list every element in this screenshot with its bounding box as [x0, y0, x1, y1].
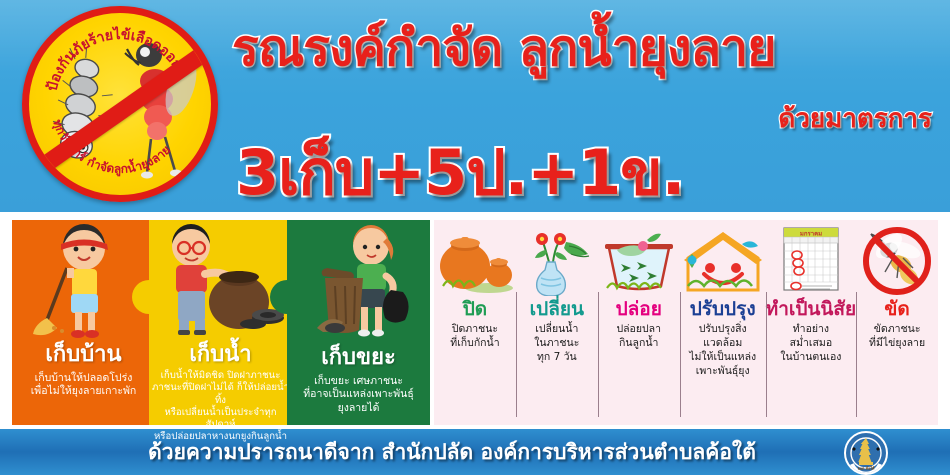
page-title: รณรงค์กำจัด ลูกน้ำยุงลาย: [232, 22, 932, 75]
measure-desc: ปล่อยปลากินลูกน้ำ: [598, 323, 680, 351]
panel-desc: เก็บน้ำให้มิดชิด ปิดฝาภาชนะ ภาชนะที่ปิดฝ…: [152, 370, 289, 444]
panel-keep-house[interactable]: เก็บบ้าน เก็บบ้านให้ปลอดโปร่ง เพื่อไม่ให…: [12, 220, 155, 425]
measure-habit[interactable]: มกราคม: [766, 220, 856, 425]
boy-covering-jar-icon: [149, 224, 292, 344]
panel-title: เก็บบ้าน: [12, 344, 155, 366]
measure-label: เปลี่ยน: [516, 300, 598, 320]
measure-close[interactable]: ปิด ปิดภาชนะที่เก็บกักน้ำ: [434, 220, 516, 425]
panel-desc: เก็บบ้านให้ปลอดโปร่ง เพื่อไม่ให้ยุงลายเก…: [15, 372, 152, 399]
measure-desc: ปิดภาชนะที่เก็บกักน้ำ: [434, 323, 516, 351]
svg-text:อบต.ค้อใต้: อบต.ค้อใต้: [858, 466, 875, 471]
water-jar-icon: [434, 224, 516, 296]
panel-keep-trash[interactable]: เก็บขยะ เก็บขยะ เศษภาชนะ ที่อาจเป็นแหล่ง…: [287, 220, 430, 425]
measure-scrub[interactable]: ขัด ขัดภาชนะที่มีไข่ยุงลาย: [856, 220, 938, 425]
poster-body: เก็บบ้าน เก็บบ้านให้ปลอดโปร่ง เพื่อไม่ให…: [0, 220, 950, 425]
poster-header: ป้องกันภัยร้ายไข้เลือดออก ทุกวันศุกร์ กำ…: [0, 0, 950, 212]
girl-sweeping-icon: [12, 224, 155, 344]
measure-desc: ปรับปรุงสิ่งแวดล้อมไม่ให้เป็นแหล่งเพาะพั…: [680, 323, 766, 378]
panel-desc: เก็บขยะ เศษภาชนะ ที่อาจเป็นแหล่งเพาะพันธ…: [290, 375, 427, 415]
panel-title: เก็บขยะ: [287, 347, 430, 369]
measure-desc: เปลี่ยนน้ำในภาชนะทุก 7 วัน: [516, 323, 598, 365]
divider-top: [0, 212, 950, 220]
campaign-formula: 3เก็บ+5ป.+1ข.: [236, 124, 684, 222]
measure-improve[interactable]: ปรับปรุง ปรับปรุงสิ่งแวดล้อมไม่ให้เป็นแห…: [680, 220, 766, 425]
measure-label: ปล่อย: [598, 300, 680, 320]
measure-label: ปิด: [434, 300, 516, 320]
measure-change[interactable]: เปลี่ยน เปลี่ยนน้ำในภาชนะทุก 7 วัน: [516, 220, 598, 425]
measure-desc: ขัดภาชนะที่มีไข่ยุงลาย: [856, 323, 938, 351]
measure-desc: ทำอย่างสม่ำเสมอในบ้านตนเอง: [766, 323, 856, 365]
fish-basin-icon: [598, 224, 680, 296]
panel-keep-water[interactable]: เก็บน้ำ เก็บน้ำให้มิดชิด ปิดฝาภาชนะ ภาชน…: [149, 220, 292, 425]
panel-title: เก็บน้ำ: [149, 344, 292, 366]
three-keeps-panels: เก็บบ้าน เก็บบ้านให้ปลอดโปร่ง เพื่อไม่ให…: [12, 220, 430, 425]
flower-vase-icon: [516, 224, 598, 296]
calendar-icon: มกราคม: [766, 224, 856, 296]
measure-label: ปรับปรุง: [680, 300, 766, 320]
poster-root: ป้องกันภัยร้ายไข้เลือดออก ทุกวันศุกร์ กำ…: [0, 0, 950, 475]
measure-release[interactable]: ปล่อย ปล่อยปลากินลูกน้ำ: [598, 220, 680, 425]
campaign-logo-badge: ป้องกันภัยร้ายไข้เลือดออก ทุกวันศุกร์ กำ…: [22, 6, 218, 202]
organization-seal-icon: อบต.ค้อใต้: [844, 431, 888, 475]
measure-label: ทำเป็นนิสัย: [766, 300, 856, 320]
happy-house-icon: [680, 224, 766, 296]
measure-label: ขัด: [856, 300, 938, 320]
title-subtitle: ด้วยมาตรการ: [778, 98, 932, 139]
girl-trash-bag-icon: [287, 224, 430, 344]
five-p-one-k-measures: ปิด ปิดภาชนะที่เก็บกักน้ำ: [434, 220, 938, 425]
poster-footer: ด้วยความปรารถนาดีจาก สำนักปลัด องค์การบร…: [0, 429, 950, 475]
footer-credit: ด้วยความปรารถนาดีจาก สำนักปลัด องค์การบร…: [0, 429, 950, 475]
no-mosquito-icon: [856, 224, 938, 296]
calendar-month-label: มกราคม: [800, 230, 822, 237]
